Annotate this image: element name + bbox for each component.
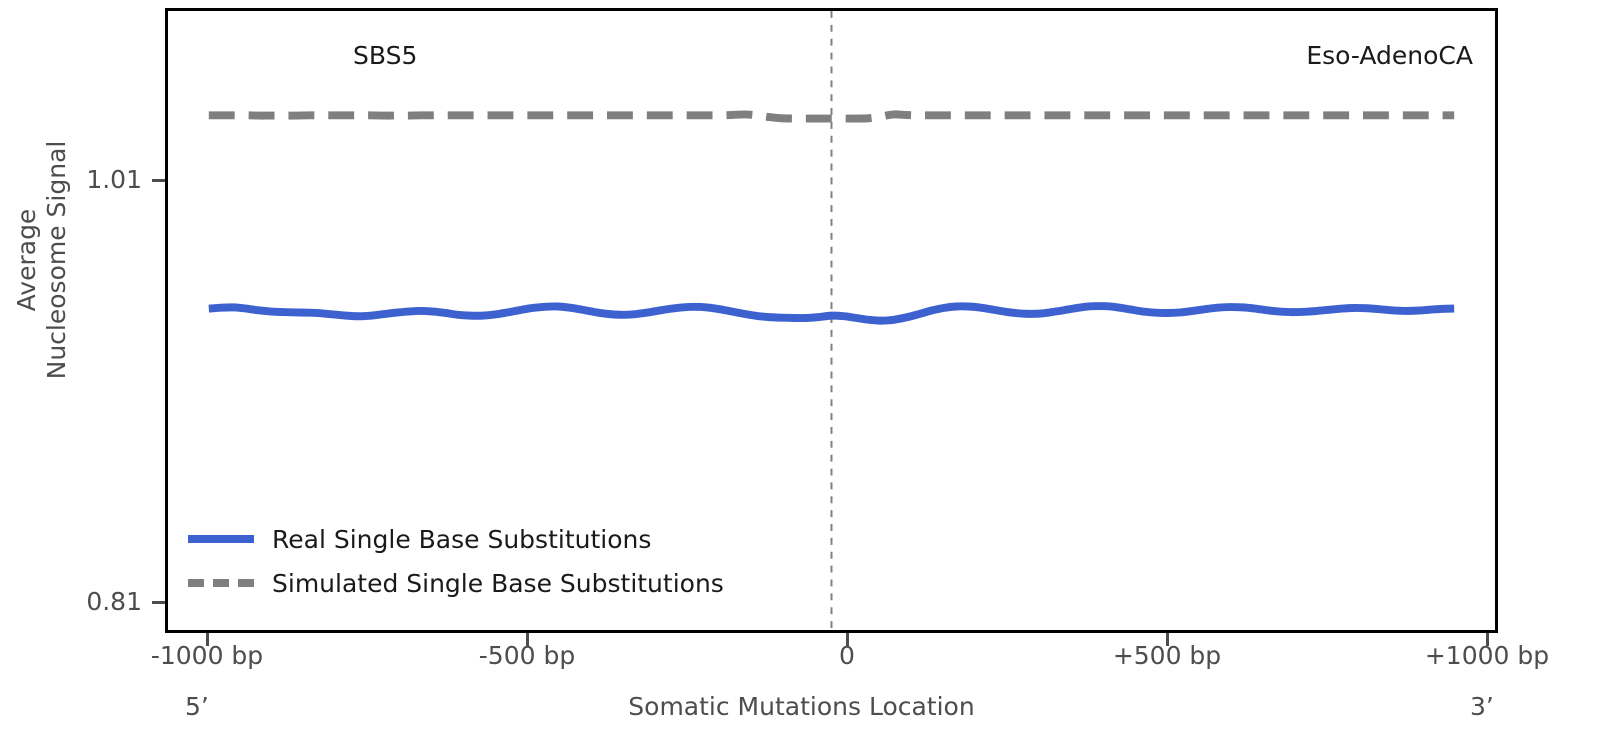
- xtick-label-4: +1000 bp: [1367, 641, 1603, 670]
- legend-label-simulated: Simulated Single Base Substitutions: [272, 569, 724, 598]
- three-prime-label: 3’: [1470, 692, 1494, 721]
- legend-label-real: Real Single Base Substitutions: [272, 525, 651, 554]
- xtick-label-2: 0: [727, 641, 967, 670]
- five-prime-label: 5’: [185, 692, 209, 721]
- ytick-mark-lower: [152, 601, 165, 604]
- y-axis-title-line2: Nucleosome Signal: [42, 100, 72, 420]
- figure-root: SBS5 Eso-AdenoCA Real Single Base Substi…: [0, 0, 1603, 756]
- chart-legend: Real Single Base Substitutions Simulated…: [188, 517, 724, 605]
- y-axis-title-line1: Average: [12, 100, 42, 420]
- ytick-label-lower: 0.81: [22, 587, 142, 616]
- ytick-mark-upper: [152, 179, 165, 182]
- xtick-label-0: -1000 bp: [87, 641, 327, 670]
- curve-simulated: [209, 114, 1454, 118]
- legend-item-simulated: Simulated Single Base Substitutions: [188, 561, 724, 605]
- legend-swatch-simulated: [188, 579, 254, 587]
- xtick-label-3: +500 bp: [1047, 641, 1287, 670]
- y-axis-title: Average Nucleosome Signal: [12, 100, 72, 420]
- x-axis-title: Somatic Mutations Location: [0, 692, 1603, 721]
- plot-area: SBS5 Eso-AdenoCA Real Single Base Substi…: [165, 8, 1498, 633]
- tissue-type-label: Eso-AdenoCA: [1306, 41, 1473, 70]
- legend-swatch-real: [188, 535, 254, 543]
- legend-item-real: Real Single Base Substitutions: [188, 517, 724, 561]
- xtick-label-1: -500 bp: [407, 641, 647, 670]
- signature-label: SBS5: [353, 41, 417, 70]
